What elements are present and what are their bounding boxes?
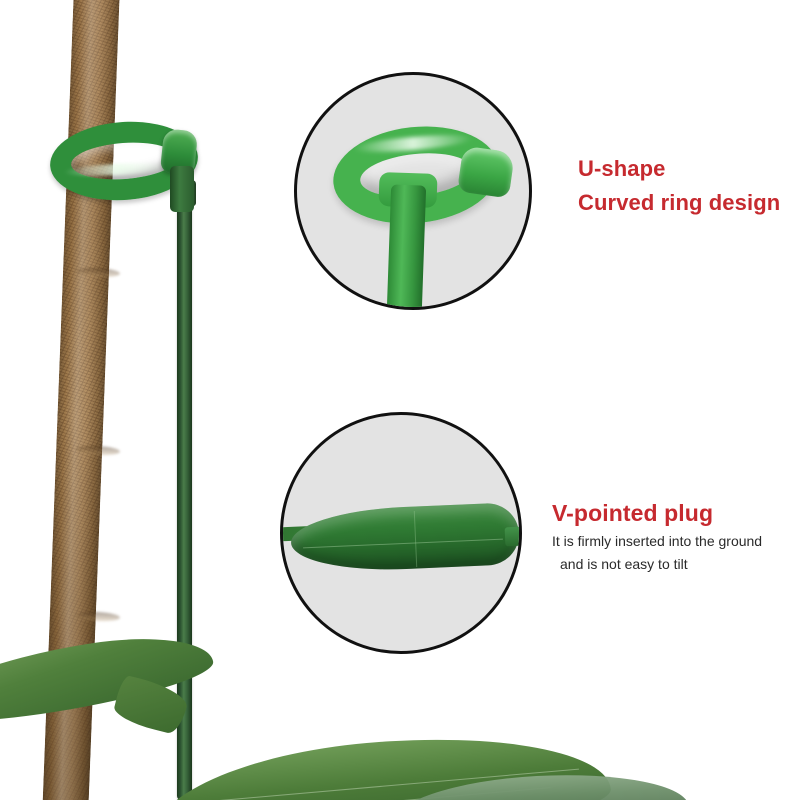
u-shape-ring-clip — [44, 116, 210, 224]
headline-u-shape-line-1: U-shape — [578, 152, 794, 186]
callout-bubble-u-shape — [294, 72, 532, 310]
headline-u-shape-line-2: Curved ring design — [578, 186, 794, 220]
ring-clip-shank — [170, 166, 194, 212]
headline-v-pointed-plug: V-pointed plug — [552, 496, 800, 530]
zoom-ring-open-tip — [457, 146, 515, 199]
zoom-ring-shank — [387, 184, 426, 310]
copy-block-u-shape: U-shape Curved ring design — [578, 152, 794, 220]
subline-v-point-2: and is not easy to tilt — [552, 553, 800, 576]
zoom-plug-body — [290, 502, 520, 574]
product-feature-image: U-shape Curved ring design V-pointed plu… — [0, 0, 800, 800]
subline-v-point-1: It is firmly inserted into the ground — [552, 530, 800, 553]
copy-block-v-point: V-pointed plug It is firmly inserted int… — [552, 496, 800, 576]
callout-bubble-v-point — [280, 412, 522, 654]
zoom-plug-tail — [505, 527, 522, 547]
